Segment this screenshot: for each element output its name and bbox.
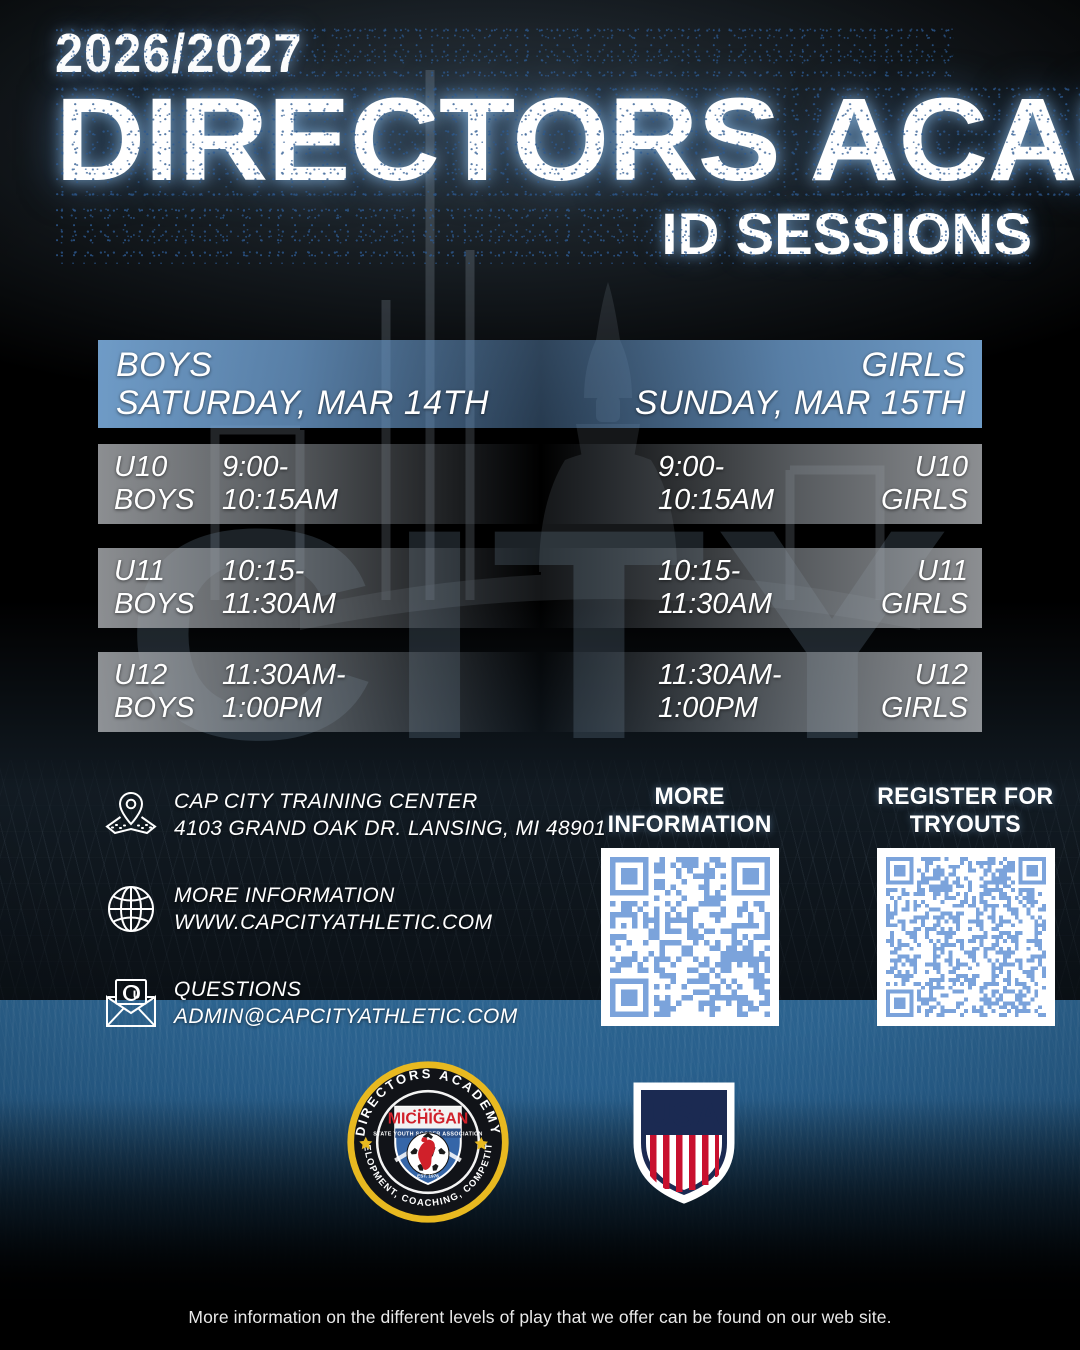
email-label: QUESTIONS (174, 976, 518, 1003)
contact-text-location: CAP CITY TRAINING CENTER 4103 GRAND OAK … (174, 788, 606, 843)
qr-block-more-information: MORE INFORMATION (596, 783, 783, 1026)
poster-header: 2026/2027 DIRECTORS ACADEMY ID SESSIONS (55, 26, 1032, 264)
page-subtitle: ID SESSIONS (55, 206, 1032, 264)
map-pin-icon (100, 787, 162, 843)
poster-canvas: CITY 2026/2027 DIRECTORS ACADEMY ID SESS… (0, 0, 1080, 1350)
contact-text-website: MORE INFORMATION WWW.CAPCITYATHLETIC.COM (174, 882, 492, 937)
time-line-1: 11:30AM- (222, 659, 418, 692)
age-line: U10 (114, 451, 222, 484)
us-soccer-text: USA (647, 1096, 722, 1134)
email-address[interactable]: ADMIN@CAPCITYATHLETIC.COM (174, 1003, 518, 1030)
session-cell-girls: 10:15- 11:30AM U11 GIRLS (541, 548, 982, 628)
group-line: BOYS (114, 484, 222, 517)
girls-group-label: GIRLS (635, 346, 966, 384)
session-age-girls: U11 GIRLS (864, 555, 968, 621)
website-url[interactable]: WWW.CAPCITYATHLETIC.COM (174, 909, 492, 936)
group-line: BOYS (114, 692, 222, 725)
qr-section: MORE INFORMATION REGISTER FOR TRYOUTS (596, 783, 1080, 1026)
contact-row-email[interactable]: QUESTIONS ADMIN@CAPCITYATHLETIC.COM (100, 970, 570, 1036)
email-icon (100, 977, 162, 1029)
session-cell-boys: U11 BOYS 10:15- 11:30AM (98, 548, 541, 628)
time-line-1: 10:15- (658, 555, 864, 588)
logo-row: DIRECTORS ACADEMY DEVELOPMENT, COACHING,… (0, 1058, 1080, 1231)
session-age-girls: U12 GIRLS (864, 659, 968, 725)
session-time-girls: 10:15- 11:30AM (658, 555, 864, 621)
time-line-2: 1:00PM (658, 692, 864, 725)
session-time-girls: 9:00- 10:15AM (658, 451, 864, 517)
qr-block-register-tryouts: REGISTER FOR TRYOUTS (851, 783, 1080, 1026)
schedule-header-boys-text: BOYS SATURDAY, MAR 14TH (116, 346, 489, 422)
session-time-girls: 11:30AM- 1:00PM (658, 659, 864, 725)
schedule-header-row: BOYS SATURDAY, MAR 14TH GIRLS SUNDAY, MA… (98, 340, 982, 428)
contact-row-location: CAP CITY TRAINING CENTER 4103 GRAND OAK … (100, 782, 570, 848)
group-line: GIRLS (864, 692, 968, 725)
page-title: DIRECTORS ACADEMY (55, 85, 1080, 196)
time-line-2: 11:30AM (222, 588, 418, 621)
time-line-2: 1:00PM (222, 692, 418, 725)
session-age-boys: U10 BOYS (114, 451, 222, 517)
age-line: U12 (864, 659, 968, 692)
table-row: U11 BOYS 10:15- 11:30AM 10:15- 11:30AM U… (98, 548, 982, 628)
session-cell-boys: U10 BOYS 9:00- 10:15AM (98, 444, 541, 524)
boys-date-label: SATURDAY, MAR 14TH (116, 384, 489, 422)
qr-label-register-tryouts: REGISTER FOR TRYOUTS (856, 783, 1076, 839)
session-age-boys: U12 BOYS (114, 659, 222, 725)
us-soccer-logo: USA (632, 1079, 736, 1210)
session-cell-girls: 9:00- 10:15AM U10 GIRLS (541, 444, 982, 524)
group-line: BOYS (114, 588, 222, 621)
session-age-girls: U10 GIRLS (864, 451, 968, 517)
session-time-boys: 10:15- 11:30AM (222, 555, 418, 621)
time-line-1: 11:30AM- (658, 659, 864, 692)
contact-row-website[interactable]: MORE INFORMATION WWW.CAPCITYATHLETIC.COM (100, 876, 570, 942)
boys-group-label: BOYS (116, 346, 489, 384)
contact-info: CAP CITY TRAINING CENTER 4103 GRAND OAK … (100, 782, 570, 1064)
time-line-1: 10:15- (222, 555, 418, 588)
age-line: U11 (114, 555, 222, 588)
qr-register-tryouts[interactable] (877, 848, 1055, 1026)
age-line: U12 (114, 659, 222, 692)
time-line-2: 10:15AM (658, 484, 864, 517)
schedule-header-girls-text: GIRLS SUNDAY, MAR 15TH (635, 346, 966, 422)
session-time-boys: 9:00- 10:15AM (222, 451, 418, 517)
website-label: MORE INFORMATION (174, 882, 492, 909)
session-cell-girls: 11:30AM- 1:00PM U12 GIRLS (541, 652, 982, 732)
session-time-boys: 11:30AM- 1:00PM (222, 659, 418, 725)
schedule-header-girls: GIRLS SUNDAY, MAR 15TH (541, 340, 982, 428)
time-line-2: 11:30AM (658, 588, 864, 621)
location-address: 4103 GRAND OAK DR. LANSING, MI 48901 (174, 815, 606, 842)
age-line: U10 (864, 451, 968, 484)
girls-date-label: SUNDAY, MAR 15TH (635, 384, 966, 422)
group-line: GIRLS (864, 588, 968, 621)
footer-note: More information on the different levels… (0, 1307, 1080, 1328)
time-line-1: 9:00- (222, 451, 418, 484)
table-row: U12 BOYS 11:30AM- 1:00PM 11:30AM- 1:00PM… (98, 652, 982, 732)
table-row: U10 BOYS 9:00- 10:15AM 9:00- 10:15AM U10 (98, 444, 982, 524)
qr-more-information[interactable] (601, 848, 779, 1026)
directors-academy-logo: DIRECTORS ACADEMY DEVELOPMENT, COACHING,… (344, 1058, 512, 1231)
group-line: GIRLS (864, 484, 968, 517)
time-line-1: 9:00- (658, 451, 864, 484)
session-age-boys: U11 BOYS (114, 555, 222, 621)
schedule-table: BOYS SATURDAY, MAR 14TH GIRLS SUNDAY, MA… (98, 340, 982, 756)
session-cell-boys: U12 BOYS 11:30AM- 1:00PM (98, 652, 541, 732)
contact-text-email: QUESTIONS ADMIN@CAPCITYATHLETIC.COM (174, 976, 518, 1031)
time-line-2: 10:15AM (222, 484, 418, 517)
schedule-header-boys: BOYS SATURDAY, MAR 14TH (98, 340, 541, 428)
crest-title: MICHIGAN (388, 1111, 469, 1128)
schedule-rows: U10 BOYS 9:00- 10:15AM 9:00- 10:15AM U10 (98, 444, 982, 732)
crest-est: EST. 1976 (417, 1173, 439, 1178)
age-line: U11 (864, 555, 968, 588)
globe-icon (100, 882, 162, 936)
qr-label-more-information: MORE INFORMATION (600, 783, 780, 839)
season-year: 2026/2027 (55, 26, 954, 81)
location-name: CAP CITY TRAINING CENTER (174, 788, 606, 815)
